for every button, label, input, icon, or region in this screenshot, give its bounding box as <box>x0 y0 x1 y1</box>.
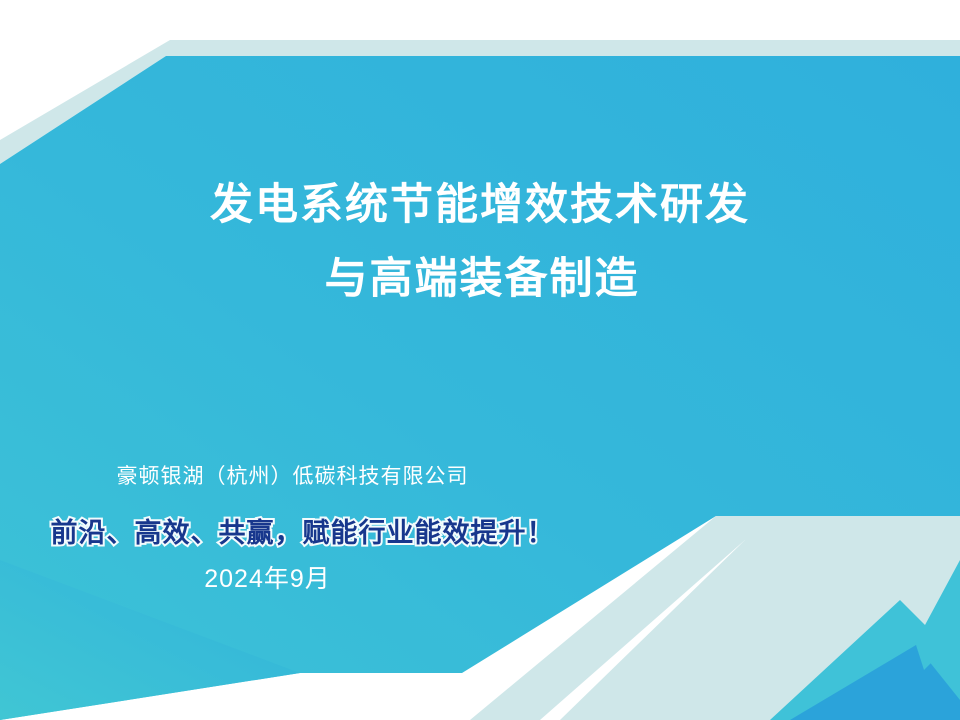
slide-title: 发电系统节能增效技术研发 与高端装备制造 <box>0 168 960 316</box>
slide-text-layer: 发电系统节能增效技术研发 与高端装备制造 豪顿银湖（杭州）低碳科技有限公司 前沿… <box>0 0 960 720</box>
title-slide: 发电系统节能增效技术研发 与高端装备制造 豪顿银湖（杭州）低碳科技有限公司 前沿… <box>0 0 960 720</box>
company-name: 豪顿银湖（杭州）低碳科技有限公司 <box>0 462 585 492</box>
presentation-date: 2024年9月 <box>0 562 535 596</box>
title-line-2: 与高端装备制造 <box>0 242 960 316</box>
slogan-tagline: 前沿、高效、共赢，赋能行业能效提升！ <box>0 514 605 552</box>
title-line-1: 发电系统节能增效技术研发 <box>0 168 960 242</box>
